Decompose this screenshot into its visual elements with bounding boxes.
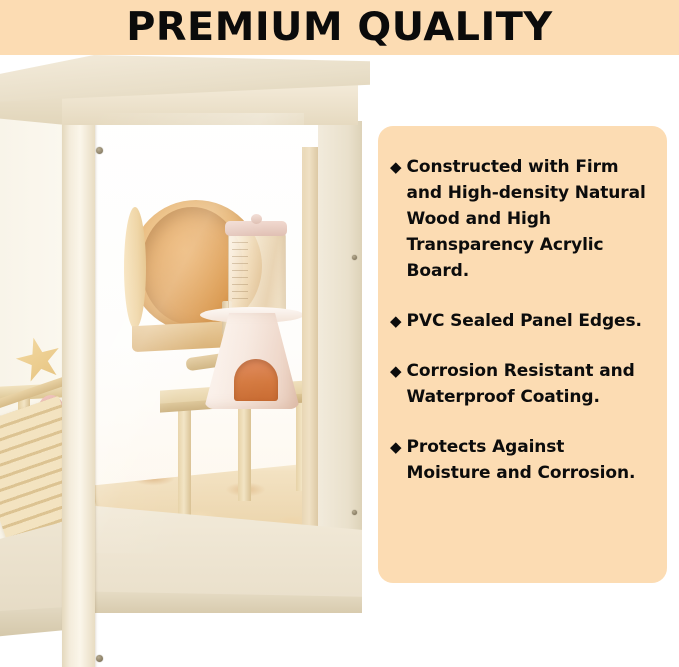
right-frame-stile: [302, 147, 318, 547]
diamond-bullet-icon: ◆: [390, 154, 402, 180]
premium-quality-banner: PREMIUM QUALITY: [0, 0, 679, 55]
product-feature-graphic: PREMIUM QUALITY: [0, 0, 679, 667]
feature-text: Constructed with Firm and High-density N…: [407, 154, 651, 284]
diamond-bullet-icon: ◆: [390, 308, 402, 334]
right-side-wall: [318, 121, 362, 591]
feature-panel: ◆ Constructed with Firm and High-density…: [378, 126, 667, 583]
water-bottle-knob: [251, 214, 262, 224]
screw-icon: [352, 255, 357, 260]
corner-post: [62, 113, 95, 667]
feature-item: ◆ Protects Against Moisture and Corrosio…: [390, 434, 651, 486]
shelf-leg: [238, 393, 251, 501]
screw-icon: [96, 655, 103, 662]
feature-text: PVC Sealed Panel Edges.: [407, 308, 642, 334]
screw-icon: [96, 147, 103, 154]
base-plinth-left: [0, 607, 66, 639]
feature-text: Corrosion Resistant and Waterproof Coati…: [407, 358, 651, 410]
diamond-bullet-icon: ◆: [390, 358, 402, 384]
product-photo: [0, 55, 378, 667]
water-bottle-scale-marks: [232, 241, 248, 305]
exercise-wheel-rim: [124, 207, 146, 329]
feature-text: Protects Against Moisture and Corrosion.: [407, 434, 651, 486]
diamond-bullet-icon: ◆: [390, 434, 402, 460]
feature-list: ◆ Constructed with Firm and High-density…: [378, 126, 667, 583]
hideout-door-opening: [234, 359, 278, 401]
feature-item: ◆ PVC Sealed Panel Edges.: [390, 308, 651, 334]
feature-item: ◆ Constructed with Firm and High-density…: [390, 154, 651, 284]
banner-title: PREMIUM QUALITY: [0, 0, 679, 55]
screw-icon: [352, 510, 357, 515]
shelf-leg: [178, 403, 191, 519]
feature-item: ◆ Corrosion Resistant and Waterproof Coa…: [390, 358, 651, 410]
